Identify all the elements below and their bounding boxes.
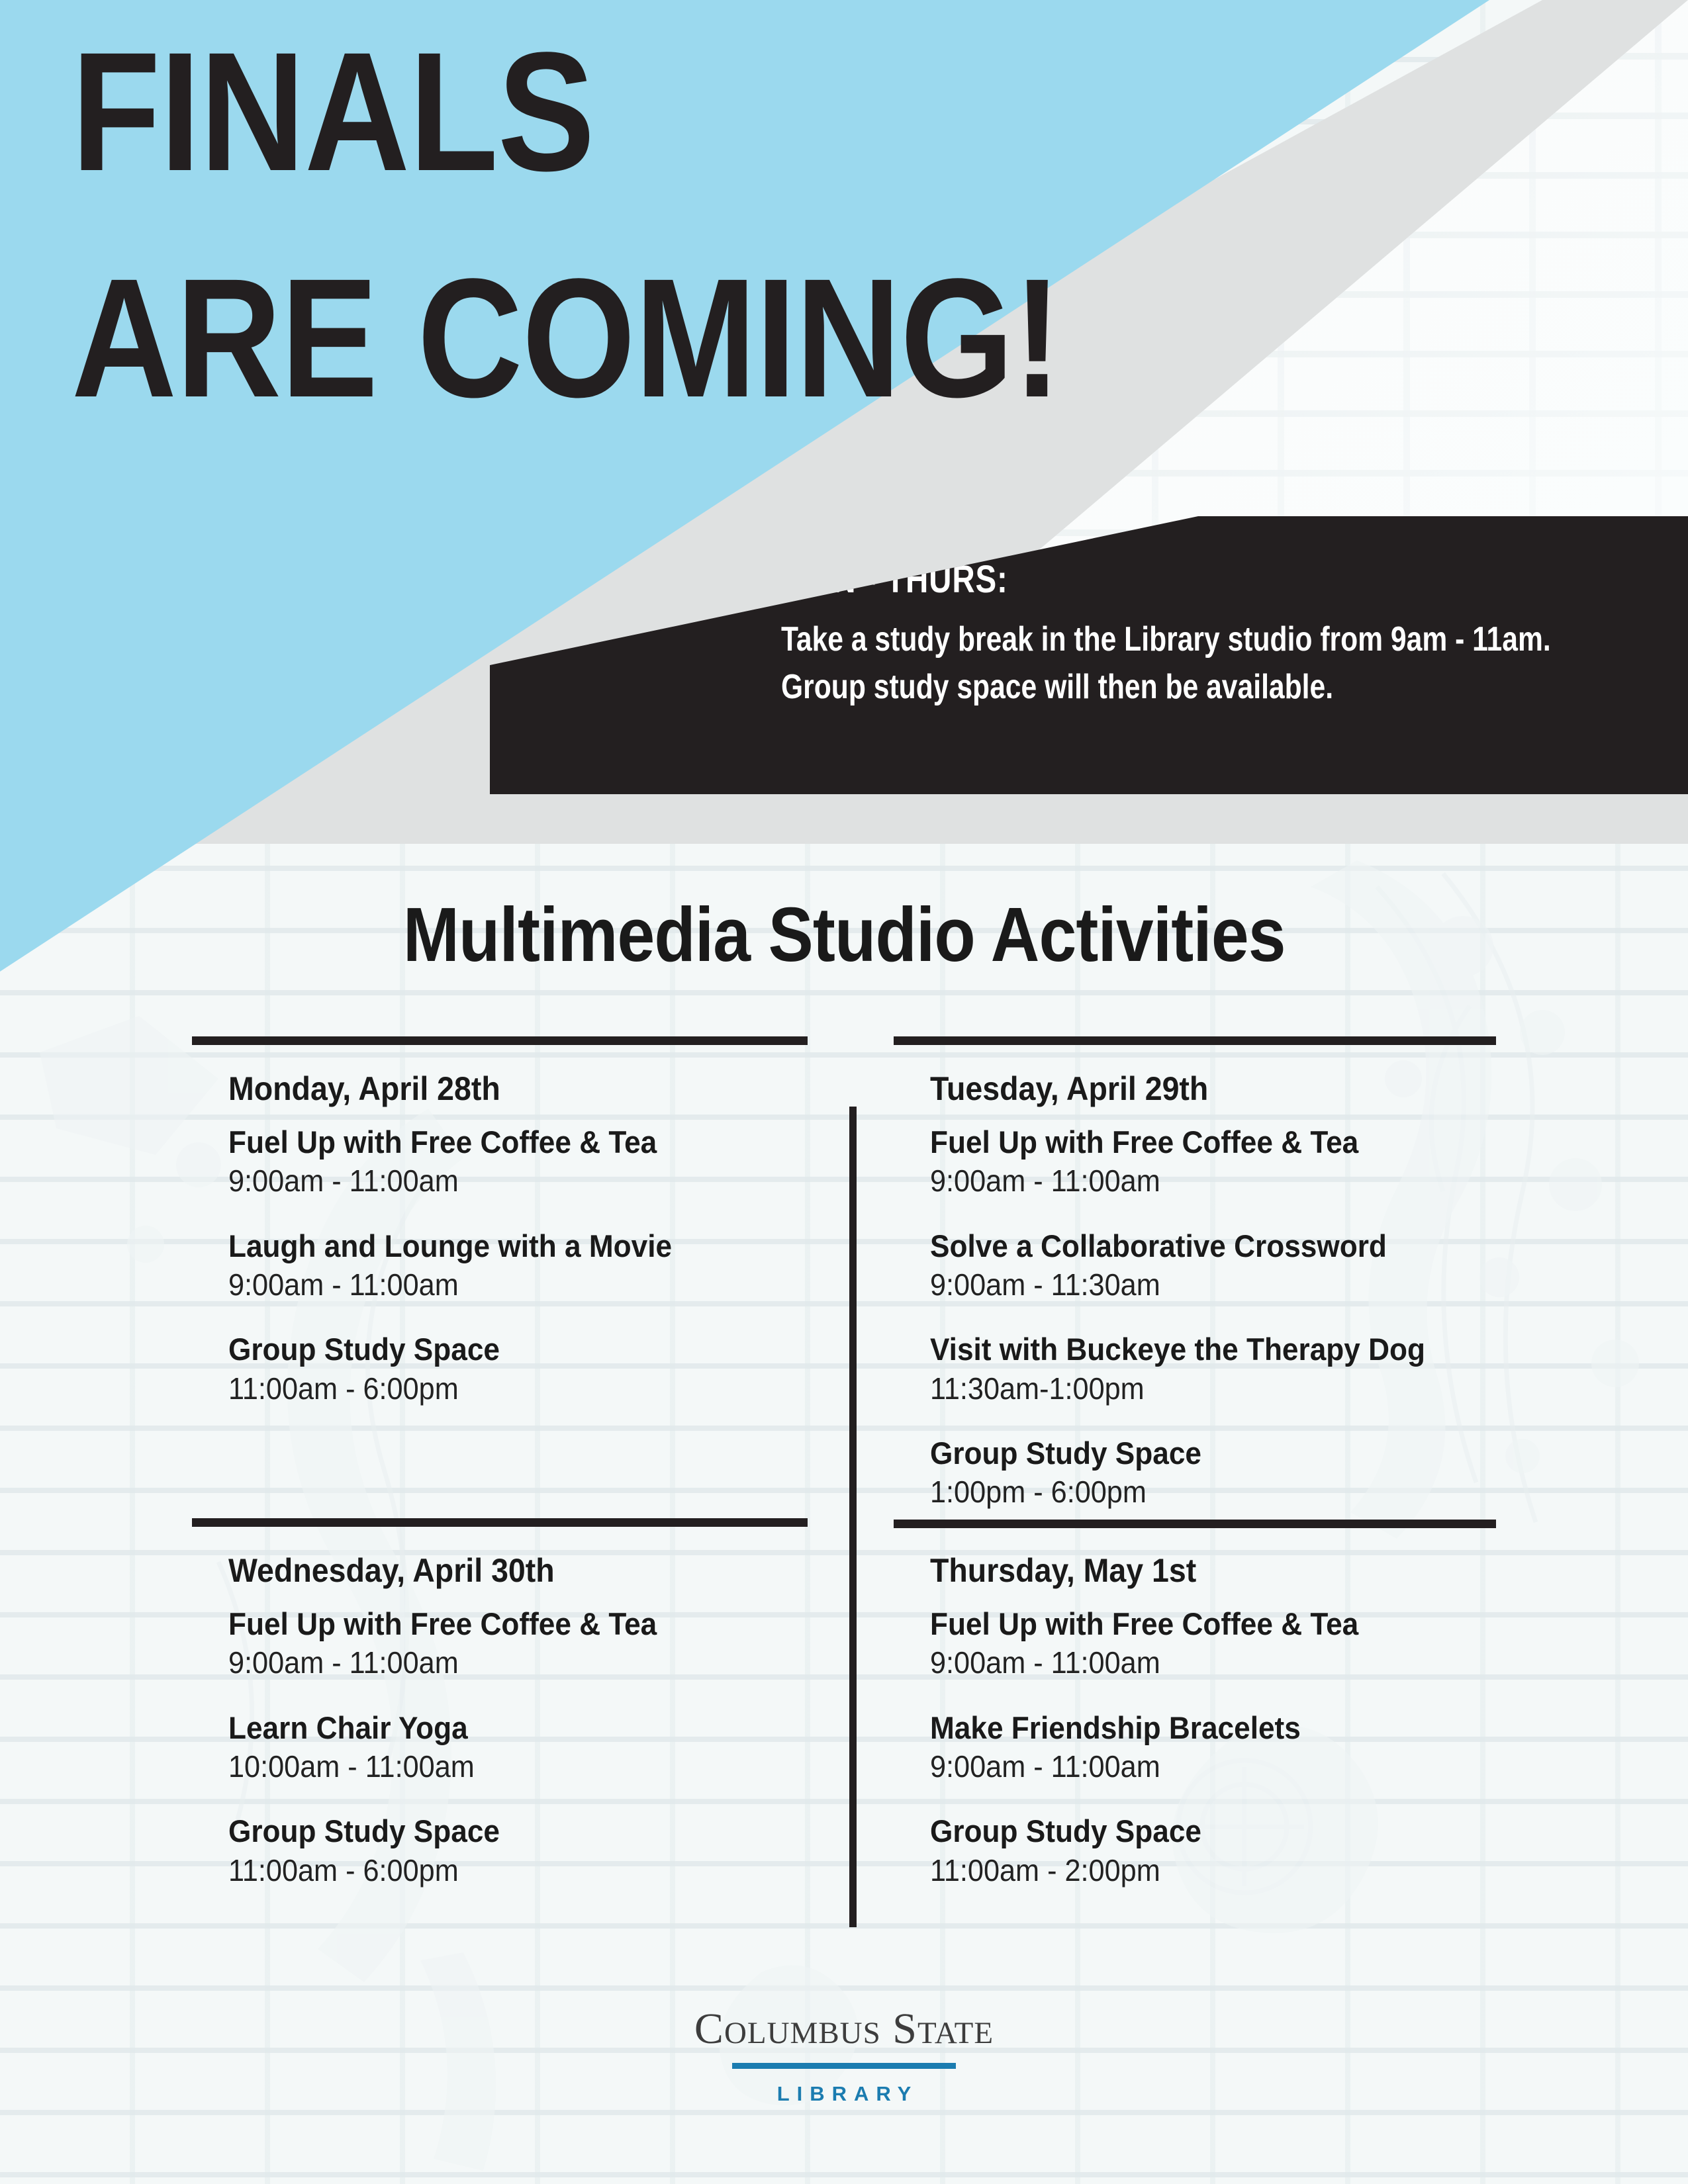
logo-wordmark: COLUMBUS STATE [0,2007,1688,2051]
event-list-tuesday: Fuel Up with Free Coffee & Tea 9:00am - … [930,1124,1523,1511]
event-time: 9:00am - 11:00am [930,1645,1160,1681]
logo-sublabel: LIBRARY [0,2082,1688,2106]
event-time: 1:00pm - 6:00pm [930,1474,1147,1510]
list-item: Make Friendship Bracelets 9:00am - 11:00… [930,1709,1523,1786]
logo-letter-c: C [694,2005,724,2053]
list-item: Learn Chair Yoga 10:00am - 11:00am [228,1709,821,1786]
columbus-state-library-logo: COLUMBUS STATE LIBRARY [0,2007,1688,2106]
event-time: 9:00am - 11:00am [930,1749,1160,1785]
day-column-wednesday: Wednesday, April 30th Fuel Up with Free … [192,1534,821,1889]
event-name: Group Study Space [228,1331,500,1367]
list-item: Group Study Space 1:00pm - 6:00pm [930,1435,1523,1511]
event-list-wednesday: Fuel Up with Free Coffee & Tea 9:00am - … [228,1606,821,1889]
rule-tuesday [894,1036,1496,1045]
logo-olumbus: OLUMBUS [724,2016,881,2050]
list-item: Laugh and Lounge with a Movie 9:00am - 1… [228,1228,821,1304]
page-title: FINALSARE COMING! [71,34,1061,416]
event-time: 11:00am - 6:00pm [228,1852,459,1889]
list-item: Group Study Space 11:00am - 6:00pm [228,1331,821,1407]
event-time: 9:00am - 11:00am [930,1163,1160,1199]
section-heading-text: Multimedia Studio Activities [403,890,1286,979]
list-item: Fuel Up with Free Coffee & Tea 9:00am - … [930,1606,1523,1682]
logo-rule [732,2063,956,2069]
event-name: Group Study Space [930,1813,1201,1849]
list-item: Group Study Space 11:00am - 6:00pm [228,1813,821,1889]
column-divider [849,1107,857,1927]
event-time: 11:30am-1:00pm [930,1371,1145,1407]
event-name: Fuel Up with Free Coffee & Tea [228,1124,657,1160]
rule-wednesday [192,1518,808,1527]
list-item: Solve a Collaborative Crossword 9:00am -… [930,1228,1523,1304]
event-name: Solve a Collaborative Crossword [930,1228,1387,1264]
day-title-monday: Monday, April 28th [228,1069,821,1108]
logo-space [881,2005,893,2053]
day-title-thursday: Thursday, May 1st [930,1551,1523,1590]
list-item: Fuel Up with Free Coffee & Tea 9:00am - … [930,1124,1523,1200]
event-time: 10:00am - 11:00am [228,1749,475,1785]
headline-line-1: FINALS [71,17,594,206]
rule-thursday [894,1520,1496,1528]
event-name: Group Study Space [228,1813,500,1849]
event-name: Group Study Space [930,1435,1201,1471]
event-name: Learn Chair Yoga [228,1709,468,1746]
day-column-monday: Monday, April 28th Fuel Up with Free Cof… [192,1052,821,1407]
poster-canvas: FINALSARE COMING! MON - THURS: Take a st… [0,0,1688,2184]
event-name: Laugh and Lounge with a Movie [228,1228,672,1264]
list-item: Fuel Up with Free Coffee & Tea 9:00am - … [228,1124,821,1200]
event-time: 9:00am - 11:30am [930,1267,1160,1303]
event-time: 9:00am - 11:00am [228,1163,459,1199]
event-list-thursday: Fuel Up with Free Coffee & Tea 9:00am - … [930,1606,1523,1889]
event-time: 11:00am - 2:00pm [930,1852,1160,1889]
event-name: Make Friendship Bracelets [930,1709,1301,1746]
list-item: Visit with Buckeye the Therapy Dog 11:30… [930,1331,1523,1407]
day-title-wednesday: Wednesday, April 30th [228,1551,821,1590]
event-time: 9:00am - 11:00am [228,1267,459,1303]
banner-line-1: Take a study break in the Library studio… [781,616,1497,664]
day-column-tuesday: Tuesday, April 29th Fuel Up with Free Co… [894,1052,1523,1511]
section-heading: Multimedia Studio Activities [0,890,1688,979]
rule-monday [192,1036,808,1045]
logo-tate: TATE [917,2016,994,2050]
list-item: Fuel Up with Free Coffee & Tea 9:00am - … [228,1606,821,1682]
banner-line-2: Group study space will then be available… [781,664,1497,711]
event-name: Fuel Up with Free Coffee & Tea [930,1606,1358,1642]
event-name: Fuel Up with Free Coffee & Tea [930,1124,1358,1160]
event-time: 9:00am - 11:00am [228,1645,459,1681]
day-column-thursday: Thursday, May 1st Fuel Up with Free Coff… [894,1534,1523,1889]
event-time: 11:00am - 6:00pm [228,1371,459,1407]
day-title-tuesday: Tuesday, April 29th [930,1069,1523,1108]
logo-letter-s: S [892,2005,917,2053]
event-name: Visit with Buckeye the Therapy Dog [930,1331,1425,1367]
headline-line-2: ARE COMING! [71,261,1061,417]
list-item: Group Study Space 11:00am - 2:00pm [930,1813,1523,1889]
event-name: Fuel Up with Free Coffee & Tea [228,1606,657,1642]
event-list-monday: Fuel Up with Free Coffee & Tea 9:00am - … [228,1124,821,1407]
